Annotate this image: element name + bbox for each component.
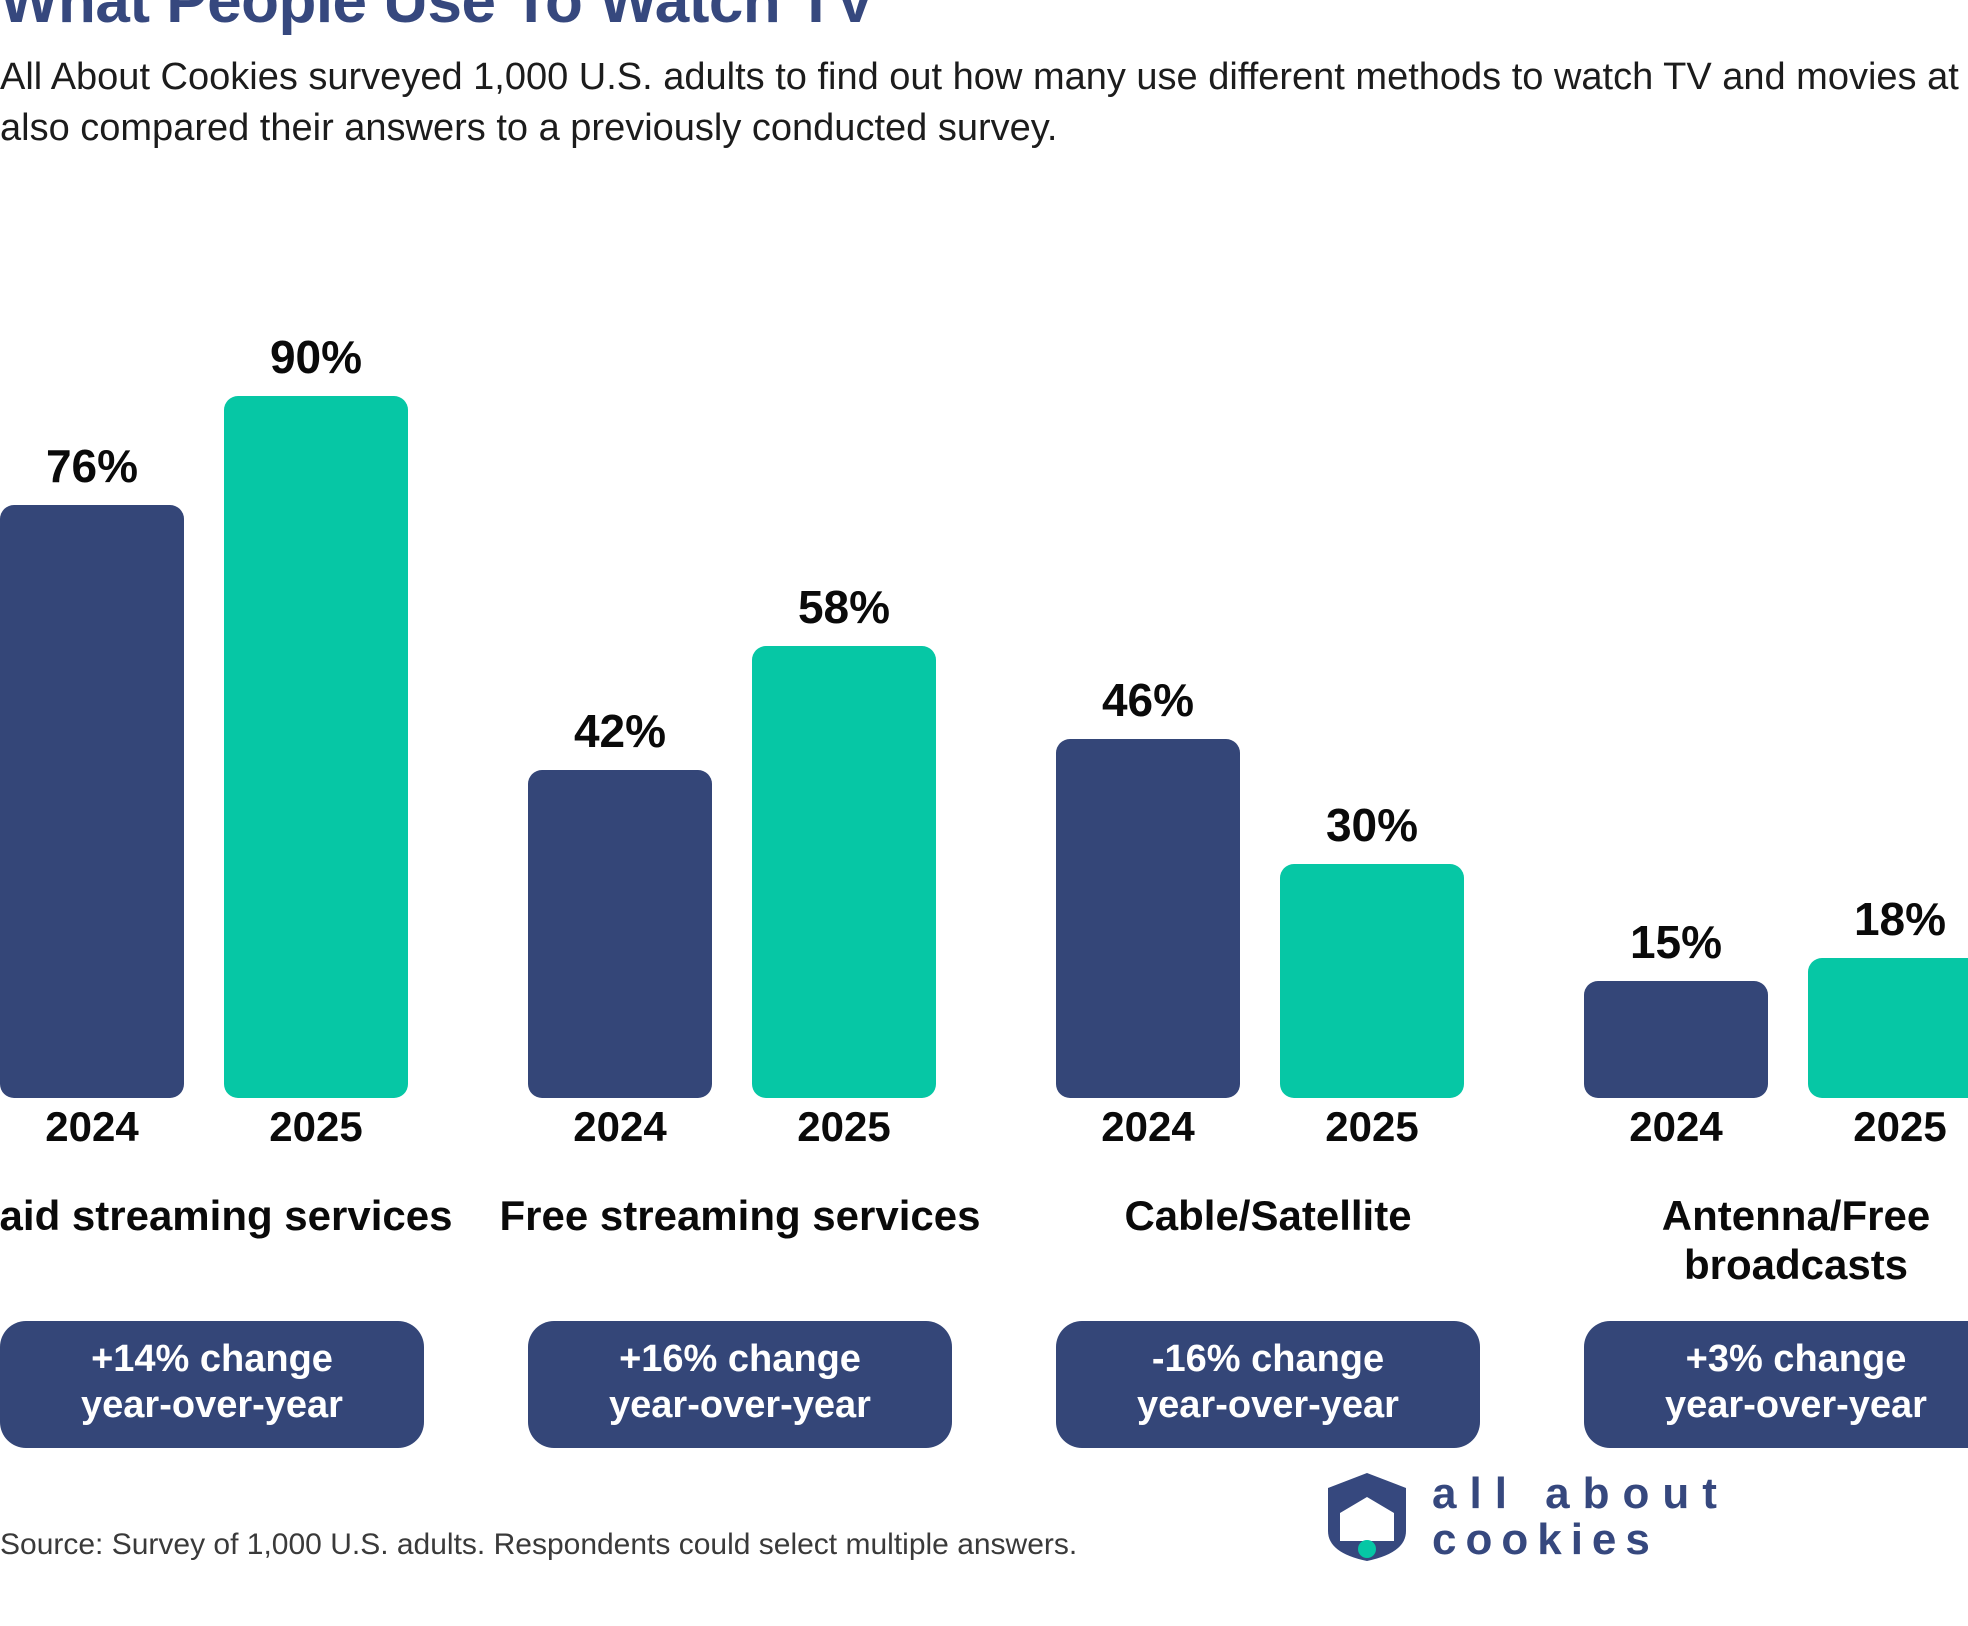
bar-pair: 15%18%: [1584, 196, 1968, 1098]
bar-value-label: 58%: [798, 584, 890, 630]
change-badge-line2: year-over-year: [538, 1383, 942, 1429]
change-badge: +14% changeyear-over-year: [0, 1321, 424, 1448]
bar-rect-2024[interactable]: [528, 770, 712, 1098]
change-badge: -16% changeyear-over-year: [1056, 1321, 1480, 1448]
bar-value-label: 18%: [1854, 896, 1946, 942]
bar-rect-2025[interactable]: [1808, 958, 1968, 1098]
source-note: Source: Survey of 1,000 U.S. adults. Res…: [0, 1528, 1077, 1562]
bar-column-2025[interactable]: 30%: [1280, 802, 1464, 1098]
bar-value-label: 15%: [1630, 919, 1722, 965]
change-badge-line1: +14% change: [10, 1337, 414, 1383]
bar-chart: 76%90%20242025Paid streaming services+14…: [0, 0, 1968, 1626]
bar-column-2025[interactable]: 58%: [752, 584, 936, 1098]
change-badge-line2: year-over-year: [10, 1383, 414, 1429]
bar-rect-2024[interactable]: [1584, 981, 1768, 1098]
year-tick-labels: 20242025: [1584, 1106, 1968, 1160]
change-badge-line1: -16% change: [1066, 1337, 1470, 1383]
year-tick-2024: 2024: [528, 1106, 712, 1148]
bar-value-label: 46%: [1102, 677, 1194, 723]
bar-column-2025[interactable]: 90%: [224, 334, 408, 1098]
brand-logo: all about cookies: [1324, 1471, 1730, 1563]
change-badge: +16% changeyear-over-year: [528, 1321, 952, 1448]
change-badge-line2: year-over-year: [1594, 1383, 1968, 1429]
bar-value-label: 90%: [270, 334, 362, 380]
brand-logo-line1: all about: [1432, 1471, 1730, 1517]
year-tick-2024: 2024: [1584, 1106, 1768, 1148]
bar-rect-2025[interactable]: [752, 646, 936, 1098]
bar-rect-2025[interactable]: [1280, 864, 1464, 1098]
bar-value-label: 42%: [574, 708, 666, 754]
year-tick-2024: 2024: [0, 1106, 184, 1148]
change-badge-line1: +3% change: [1594, 1337, 1968, 1383]
year-tick-2025: 2025: [1280, 1106, 1464, 1148]
change-badge: +3% changeyear-over-year: [1584, 1321, 1968, 1448]
year-tick-2025: 2025: [752, 1106, 936, 1148]
year-tick-2025: 2025: [224, 1106, 408, 1148]
category-label: Paid streaming services: [0, 1191, 464, 1240]
category-label: Cable/Satellite: [1016, 1191, 1520, 1240]
bar-value-label: 76%: [46, 443, 138, 489]
category-label: Antenna/Free broadcasts: [1544, 1191, 1968, 1289]
bar-rect-2024[interactable]: [1056, 739, 1240, 1098]
bar-pair: 76%90%: [0, 196, 424, 1098]
brand-logo-text: all about cookies: [1432, 1471, 1730, 1563]
cookie-shield-icon: [1324, 1471, 1410, 1563]
year-tick-labels: 20242025: [1056, 1106, 1480, 1160]
year-tick-2025: 2025: [1808, 1106, 1968, 1148]
bar-column-2024[interactable]: 46%: [1056, 677, 1240, 1098]
year-tick-labels: 20242025: [0, 1106, 424, 1160]
brand-logo-line2: cookies: [1432, 1517, 1730, 1563]
bar-pair: 42%58%: [528, 196, 952, 1098]
year-tick-2024: 2024: [1056, 1106, 1240, 1148]
bar-column-2024[interactable]: 42%: [528, 708, 712, 1098]
bar-column-2024[interactable]: 76%: [0, 443, 184, 1098]
bar-rect-2024[interactable]: [0, 505, 184, 1098]
change-badge-line1: +16% change: [538, 1337, 942, 1383]
infographic-canvas: What People Use To Watch TV All About Co…: [0, 0, 1968, 1626]
year-tick-labels: 20242025: [528, 1106, 952, 1160]
category-label: Free streaming services: [488, 1191, 992, 1240]
bar-pair: 46%30%: [1056, 196, 1480, 1098]
bar-column-2024[interactable]: 15%: [1584, 919, 1768, 1098]
bar-rect-2025[interactable]: [224, 396, 408, 1098]
bar-column-2025[interactable]: 18%: [1808, 896, 1968, 1098]
bar-value-label: 30%: [1326, 802, 1418, 848]
change-badge-line2: year-over-year: [1066, 1383, 1470, 1429]
